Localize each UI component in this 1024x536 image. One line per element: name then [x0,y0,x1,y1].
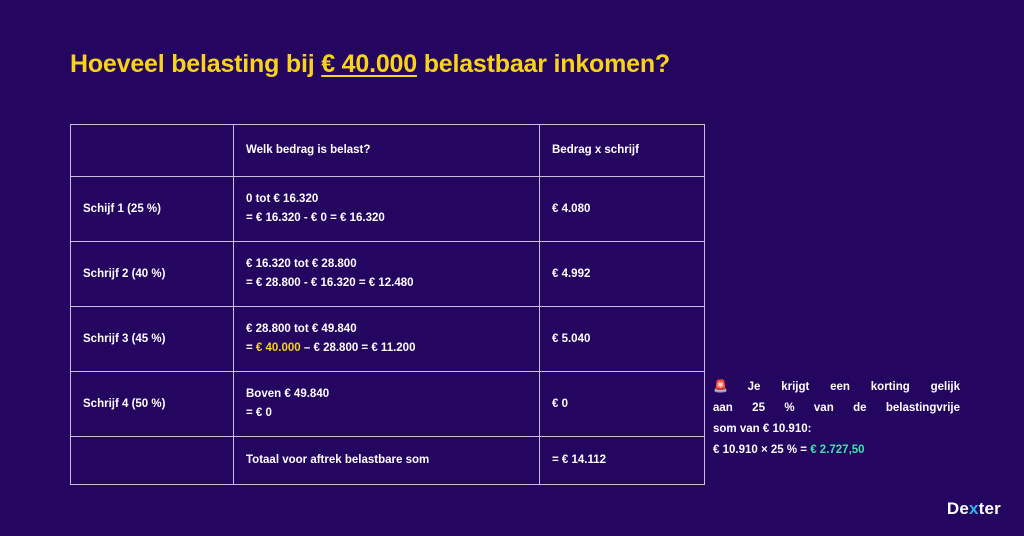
cell-bracket-2: Schrijf 2 (40 %) [71,242,234,307]
amount-line-1: Boven € 49.840 [246,385,527,404]
cell-amount-4: Boven € 49.840 = € 0 [234,372,540,437]
amount-line-2: = € 40.000 – € 28.800 = € 11.200 [246,339,527,358]
cell-bracket-4: Schrijf 4 (50 %) [71,372,234,437]
table-row: Schijf 1 (25 %) 0 tot € 16.320 = € 16.32… [71,177,705,242]
page-title: Hoeveel belasting bij € 40.000 belastbaa… [70,50,670,79]
side-note-line-4-highlight: € 2.727,50 [810,444,864,456]
cell-bracket-1: Schijf 1 (25 %) [71,177,234,242]
brand-logo-part2: ter [979,499,1001,518]
side-note-line-1: 🚨Je krijgt een korting gelijk [713,376,960,398]
amount-line-2-pre: = € 28.800 - € 16.320 = € 12.480 [246,277,414,289]
cell-result-1: € 4.080 [540,177,705,242]
amount-line-1: 0 tot € 16.320 [246,190,527,209]
page-title-highlight: € 40.000 [321,50,417,78]
brand-logo-accent: x [969,499,979,518]
cell-amount-2: € 16.320 tot € 28.800 = € 28.800 - € 16.… [234,242,540,307]
amount-line-2-pre: = € 0 [246,407,272,419]
side-note-line-3: som van € 10.910: [713,419,960,440]
header-cell-bracket [71,125,234,177]
brand-logo-part1: De [947,499,969,518]
cell-bracket-total [71,437,234,485]
side-note-line-4-pre: € 10.910 × 25 % = [713,444,810,456]
amount-line-2-pre: = € 16.320 - € 0 = € 16.320 [246,212,385,224]
cell-amount-3: € 28.800 tot € 49.840 = € 40.000 – € 28.… [234,307,540,372]
header-cell-result: Bedrag x schrijf [540,125,705,177]
page-title-suffix: belastbaar inkomen? [417,50,670,78]
side-note-line-2: aan 25 % van de belastingvrije [713,398,960,419]
amount-line-2: = € 28.800 - € 16.320 = € 12.480 [246,274,527,293]
cell-result-2: € 4.992 [540,242,705,307]
table-total-row: Totaal voor aftrek belastbare som = € 14… [71,437,705,485]
table-row: Schrijf 3 (45 %) € 28.800 tot € 49.840 =… [71,307,705,372]
police-light-emoji: 🚨 [713,379,746,393]
amount-line-2-highlight: € 40.000 [256,342,301,354]
cell-result-4: € 0 [540,372,705,437]
cell-total-result: = € 14.112 [540,437,705,485]
cell-total-label: Totaal voor aftrek belastbare som [234,437,540,485]
side-note-line-4: € 10.910 × 25 % = € 2.727,50 [713,440,960,461]
table-row: Schrijf 2 (40 %) € 16.320 tot € 28.800 =… [71,242,705,307]
table-row: Schrijf 4 (50 %) Boven € 49.840 = € 0 € … [71,372,705,437]
amount-line-1: € 16.320 tot € 28.800 [246,255,527,274]
amount-line-2-post: – € 28.800 = € 11.200 [301,342,416,354]
amount-line-1: € 28.800 tot € 49.840 [246,320,527,339]
header-cell-amount: Welk bedrag is belast? [234,125,540,177]
page-title-prefix: Hoeveel belasting bij [70,50,321,78]
cell-result-3: € 5.040 [540,307,705,372]
amount-line-2-pre: = [246,342,256,354]
cell-amount-1: 0 tot € 16.320 = € 16.320 - € 0 = € 16.3… [234,177,540,242]
amount-line-2: = € 16.320 - € 0 = € 16.320 [246,209,527,228]
table-header-row: Welk bedrag is belast? Bedrag x schrijf [71,125,705,177]
tax-bracket-table: Welk bedrag is belast? Bedrag x schrijf … [70,124,705,485]
side-note-text-1: Je krijgt een korting gelijk [748,381,960,393]
cell-bracket-3: Schrijf 3 (45 %) [71,307,234,372]
side-note: 🚨Je krijgt een korting gelijk aan 25 % v… [713,376,960,461]
amount-line-2: = € 0 [246,404,527,423]
brand-logo: Dexter [947,499,1001,519]
